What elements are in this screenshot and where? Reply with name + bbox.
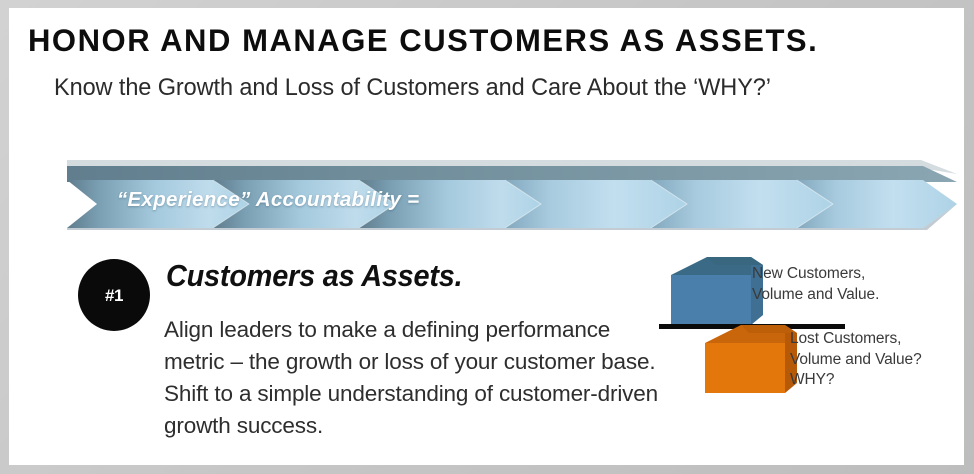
banner-label: “Experience” Accountability = [117, 188, 419, 212]
slide-canvas: HONOR AND MANAGE CUSTOMERS AS ASSETS. Kn… [9, 8, 964, 465]
section-heading: Customers as Assets. [166, 258, 462, 294]
lost-customers-cube [705, 325, 797, 393]
new-customers-caption: New Customers, Volume and Value. [752, 264, 879, 305]
number-badge-label: #1 [105, 287, 123, 304]
lost-customers-caption: Lost Customers, Volume and Value? WHY? [790, 329, 922, 391]
new-customers-cube [671, 257, 763, 325]
page-subtitle: Know the Growth and Loss of Customers an… [54, 74, 771, 102]
number-badge: #1 [78, 259, 150, 331]
slide-frame: HONOR AND MANAGE CUSTOMERS AS ASSETS. Kn… [0, 0, 974, 474]
cube-diagram: New Customers, Volume and Value. Lost Cu… [659, 253, 964, 413]
section-body: Align leaders to make a defining perform… [164, 314, 664, 442]
page-title: HONOR AND MANAGE CUSTOMERS AS ASSETS. [28, 22, 818, 59]
accountability-banner: “Experience” Accountability = [67, 160, 957, 232]
